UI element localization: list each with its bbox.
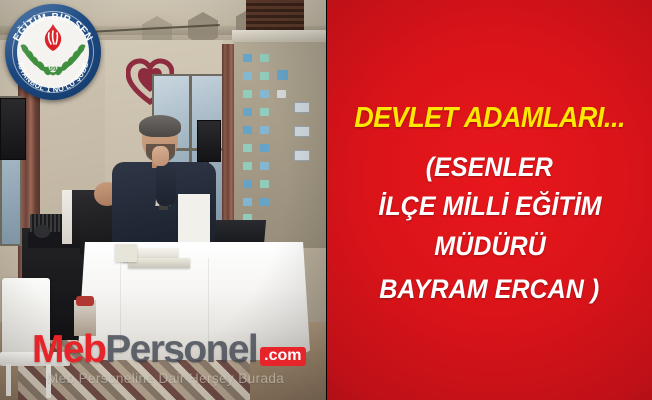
- logo-gloss: [5, 4, 101, 100]
- headline-line-4: MÜDÜRÜ: [434, 233, 546, 260]
- egitim-bir-sen-logo: EĞİTİM-BİR-SEN İSTANBUL 1 NO'LU ŞUBE: [5, 4, 101, 100]
- table-with-white-cloth: [78, 242, 310, 360]
- chair-back: [2, 278, 50, 356]
- notebook: [115, 244, 137, 262]
- desktop-window-icon: [294, 150, 310, 161]
- headline-line-3: İLÇE MİLLİ EĞİTİM: [378, 193, 601, 220]
- red-headline-banner: DEVLET ADAMLARI... (ESENLER İLÇE MİLLİ E…: [327, 0, 652, 400]
- chair-leg: [46, 364, 51, 398]
- red-object: [76, 296, 94, 306]
- headline-text-block: DEVLET ADAMLARI... (ESENLER İLÇE MİLLİ E…: [327, 0, 652, 400]
- cloth-fold: [120, 258, 121, 354]
- headline-line-2: (ESENLER: [426, 154, 553, 181]
- audio-equipment: [34, 225, 50, 238]
- loudspeaker: [0, 98, 26, 160]
- wooden-slat-ceiling: [246, 0, 304, 34]
- cloth-fold: [208, 258, 209, 354]
- hand: [152, 146, 169, 166]
- projection-screen: [234, 42, 326, 248]
- arm: [156, 162, 176, 206]
- chair-leg: [6, 364, 11, 396]
- document-stack: [128, 258, 190, 268]
- flipchart-paper: [178, 194, 210, 246]
- desktop-window-icon: [294, 102, 310, 113]
- desktop-window-icon: [294, 126, 310, 137]
- screenshot-root: EĞİTİM-BİR-SEN İSTANBUL 1 NO'LU ŞUBE: [0, 0, 652, 400]
- headline-line-1: DEVLET ADAMLARI...: [354, 104, 625, 133]
- headline-line-5: BAYRAM ERCAN ): [380, 276, 600, 303]
- hair: [139, 115, 181, 137]
- white-chair: [0, 278, 72, 396]
